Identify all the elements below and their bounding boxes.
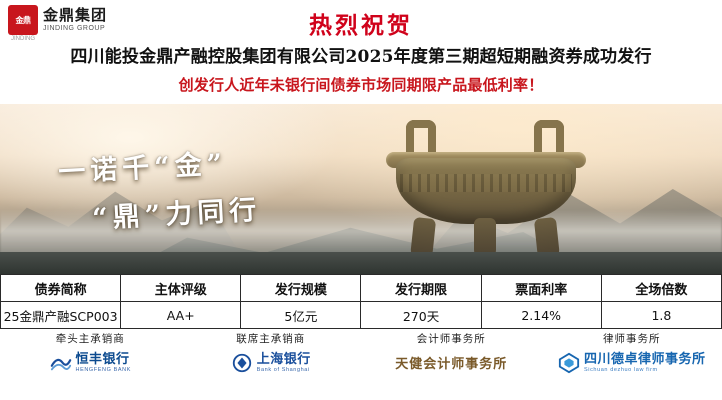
footer-column-lead-underwriter: 牵头主承销商 恒丰银行 HENGFENG BANK	[0, 329, 181, 382]
poster-header: 金鼎 金鼎集团 JINDING GROUP JINDING 热烈祝贺 四川能投金…	[0, 0, 722, 104]
footer-brand-name-cn: 恒丰银行	[76, 353, 131, 367]
bank-of-shanghai-mark-icon	[231, 352, 253, 374]
table-header-row: 债券简称 主体评级 发行规模 发行期限 票面利率 全场倍数	[1, 275, 722, 302]
table-header-cell: 发行规模	[241, 275, 361, 302]
headline-text: 四川能投金鼎产融控股集团有限公司2025年度第三期超短期融资券成功发行	[0, 42, 722, 67]
footer-column-law-firm: 律师事务所 四川德卓律师事务所 Sichuan dezhuo law firm	[542, 329, 722, 382]
footer-brand-name-en: Bank of Shanghai	[257, 367, 311, 374]
dezhuo-law-firm-mark-icon	[558, 352, 580, 374]
dezhuo-law-firm-logo: 四川德卓律师事务所 Sichuan dezhuo law firm	[558, 352, 706, 374]
table-cell: 25金鼎产融SCP003	[1, 302, 121, 329]
footer-role-title: 会计师事务所	[417, 331, 486, 346]
poster-page: 金鼎 金鼎集团 JINDING GROUP JINDING 热烈祝贺 四川能投金…	[0, 0, 722, 400]
hero-banner: 一诺千“金” “鼎”力同行	[0, 104, 722, 274]
footer-brand-name-en: Sichuan dezhuo law firm	[584, 367, 706, 374]
footer-brand-name-cn: 上海银行	[257, 353, 311, 367]
subheadline-text: 创发行人近年未银行间债券市场同期限产品最低利率！	[0, 74, 722, 95]
footer-column-joint-underwriter: 联席主承销商 上海银行 Bank of Shanghai	[181, 329, 362, 382]
banner-title: 热烈祝贺	[0, 6, 722, 40]
footer-brand-name-cn: 四川德卓律师事务所	[584, 353, 706, 367]
table-cell: 2.14%	[481, 302, 601, 329]
table-header-cell: 票面利率	[481, 275, 601, 302]
bank-of-shanghai-logo: 上海银行 Bank of Shanghai	[231, 352, 311, 374]
table-cell: 5亿元	[241, 302, 361, 329]
poster-footer: 牵头主承销商 恒丰银行 HENGFENG BANK 联席主承销商	[0, 329, 722, 382]
table-cell: 1.8	[601, 302, 721, 329]
footer-role-title: 联席主承销商	[236, 331, 305, 346]
table-header-cell: 主体评级	[121, 275, 241, 302]
footer-brand-name-en: HENGFENG BANK	[76, 367, 131, 374]
table-header-cell: 发行期限	[361, 275, 481, 302]
ding-pattern-band	[400, 174, 572, 192]
table-cell: AA+	[121, 302, 241, 329]
table-header-cell: 全场倍数	[601, 275, 721, 302]
table-row: 25金鼎产融SCP003 AA+ 5亿元 270天 2.14% 1.8	[1, 302, 722, 329]
footer-column-accounting-firm: 会计师事务所 天健会计师事务所	[361, 329, 542, 382]
table-cell: 270天	[361, 302, 481, 329]
bond-summary-table: 债券简称 主体评级 发行规模 发行期限 票面利率 全场倍数 25金鼎产融SCP0…	[0, 274, 722, 329]
footer-role-title: 律师事务所	[603, 331, 661, 346]
tianjian-cpa-logo: 天健会计师事务所	[395, 353, 507, 372]
hengfeng-bank-mark-icon	[50, 352, 72, 374]
bronze-ding-icon	[360, 118, 610, 268]
hero-ground	[0, 252, 722, 274]
table-header-cell: 债券简称	[1, 275, 121, 302]
hengfeng-bank-logo: 恒丰银行 HENGFENG BANK	[50, 352, 131, 374]
footer-role-title: 牵头主承销商	[56, 331, 125, 346]
